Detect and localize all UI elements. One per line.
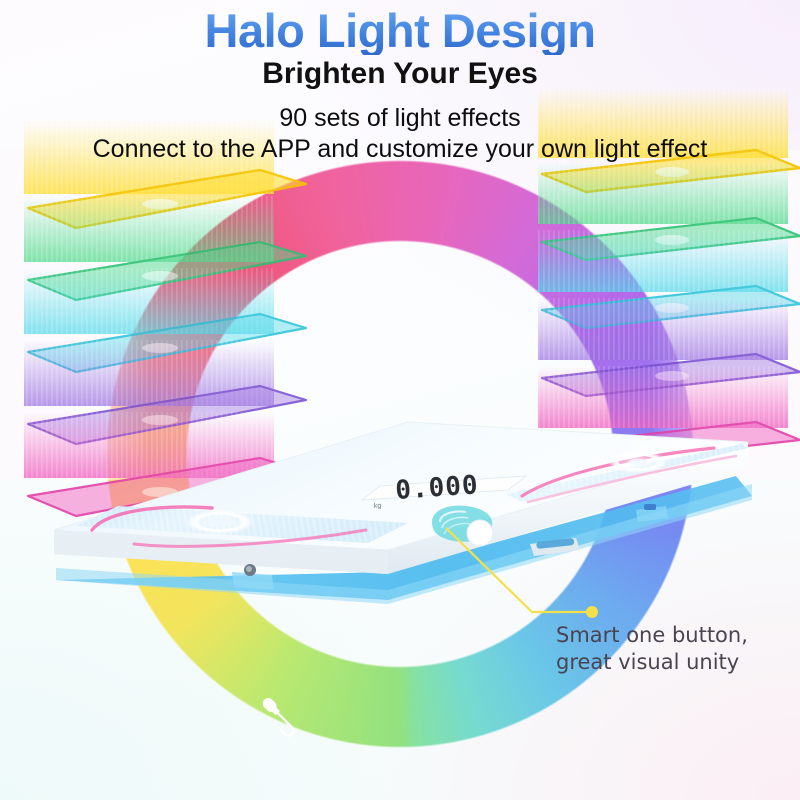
eyedropper-icon [252, 688, 310, 746]
callout-leader-line [440, 500, 620, 640]
callout-text: Smart one button, great visual unity [556, 622, 796, 676]
product-marketing-image: 0.000 kg [0, 0, 800, 800]
led-ring-left [186, 510, 254, 534]
led-ring-right [608, 451, 668, 473]
callout-line-1: Smart one button, [556, 622, 796, 649]
page-subtitle: Brighten Your Eyes [0, 57, 800, 90]
callout-dot [586, 606, 598, 618]
feature-line-1: 90 sets of light effects [0, 104, 800, 132]
page-title: Halo Light Design [0, 6, 800, 55]
feature-line-2: Connect to the APP and customize your ow… [0, 135, 800, 163]
lcd-unit: kg [374, 502, 382, 510]
callout-line-2: great visual unity [556, 649, 796, 676]
sensor-screw [232, 564, 274, 590]
